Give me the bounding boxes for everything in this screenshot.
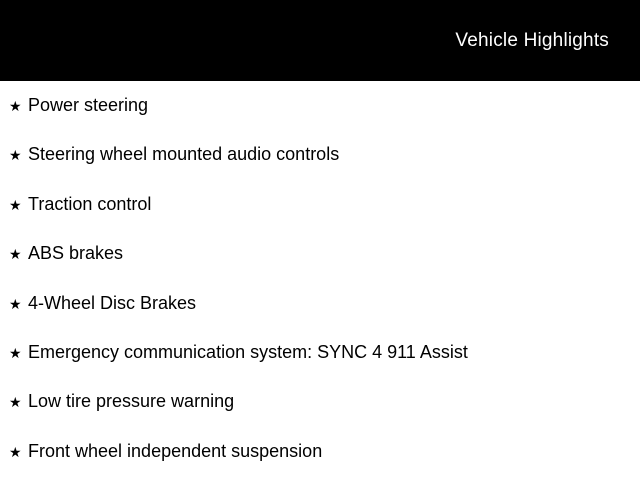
vehicle-highlights-list: ★ Power steering ★ Steering wheel mounte… [0, 81, 640, 491]
list-item-label: 4-Wheel Disc Brakes [28, 294, 196, 312]
page-title: Vehicle Highlights [455, 31, 609, 50]
vehicle-highlights-page: Vehicle Highlights ★ Power steering ★ St… [0, 0, 640, 480]
star-icon: ★ [9, 100, 28, 114]
list-item-label: Emergency communication system: SYNC 4 9… [28, 343, 468, 361]
list-item: ★ Power steering [0, 81, 640, 145]
star-icon: ★ [9, 347, 28, 361]
star-icon: ★ [9, 149, 28, 163]
star-icon: ★ [9, 248, 28, 262]
header-band: Vehicle Highlights [0, 0, 640, 81]
star-icon: ★ [9, 396, 28, 410]
list-item-label: Power steering [28, 96, 148, 114]
list-item: ★ Steering wheel mounted audio controls [0, 145, 640, 194]
star-icon: ★ [9, 298, 28, 312]
list-item: ★ Traction control [0, 195, 640, 244]
list-item: ★ 4-Wheel Disc Brakes [0, 294, 640, 343]
list-item-label: Traction control [28, 195, 151, 213]
list-item: ★ Low tire pressure warning [0, 392, 640, 441]
list-item-label: Steering wheel mounted audio controls [28, 145, 339, 163]
list-item-label: Front wheel independent suspension [28, 442, 322, 460]
list-item-label: Low tire pressure warning [28, 392, 234, 410]
list-item: ★ ABS brakes [0, 244, 640, 293]
list-item-label: ABS brakes [28, 244, 123, 262]
star-icon: ★ [9, 446, 28, 460]
list-item: ★ Emergency communication system: SYNC 4… [0, 343, 640, 392]
star-icon: ★ [9, 199, 28, 213]
list-item: ★ Front wheel independent suspension [0, 442, 640, 491]
